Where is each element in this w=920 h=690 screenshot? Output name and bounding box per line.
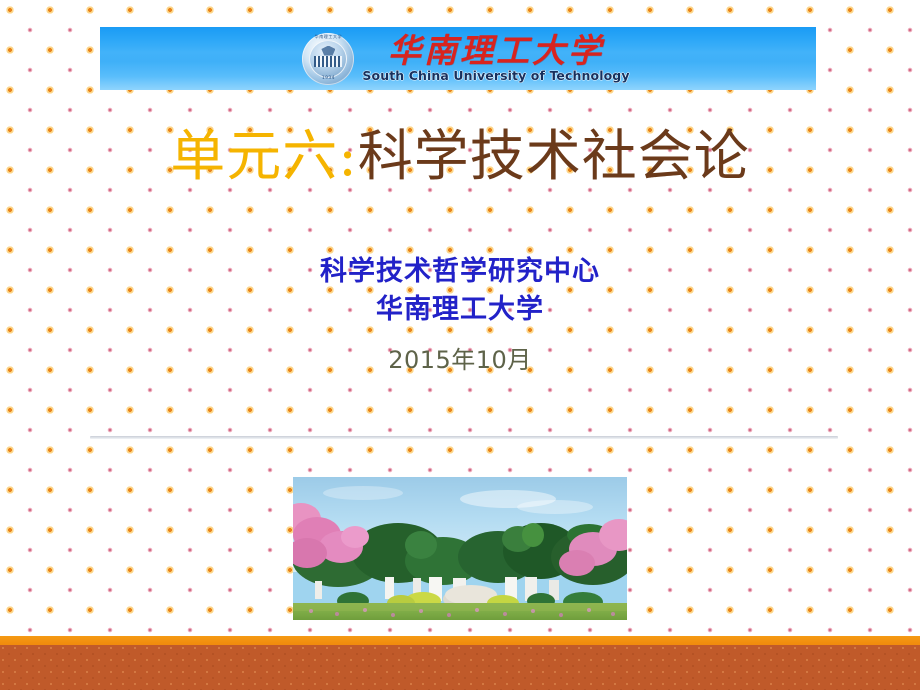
subtitle-block: 科学技术哲学研究中心 华南理工大学 2015年10月 — [0, 253, 920, 375]
campus-photo — [293, 477, 627, 620]
slide-title: 单元六:科学技术社会论 — [0, 126, 920, 188]
footer-accent-stripe — [0, 636, 920, 645]
subtitle-university: 华南理工大学 — [0, 291, 920, 329]
wordmark-english: South China University of Technology — [362, 70, 629, 83]
subtitle-research-center: 科学技术哲学研究中心 — [0, 253, 920, 291]
university-seal-icon: 华南理工大学 1934 — [302, 33, 354, 85]
university-wordmark: 华南理工大学 South China University of Technol… — [362, 34, 629, 83]
footer-band — [0, 645, 920, 690]
subtitle-date: 2015年10月 — [0, 340, 920, 375]
university-banner: 华南理工大学 1934 华南理工大学 South China Universit… — [100, 27, 816, 90]
campus-photo-graphic — [293, 477, 627, 620]
slide-title-topic: 科学技术社会论 — [358, 124, 750, 188]
seal-founding-year: 1934 — [302, 76, 354, 81]
presentation-slide: 华南理工大学 1934 华南理工大学 South China Universit… — [0, 0, 920, 690]
banner-logo-group: 华南理工大学 1934 华南理工大学 South China Universit… — [302, 33, 629, 85]
horizontal-divider — [90, 436, 838, 439]
wordmark-chinese: 华南理工大学 — [388, 34, 604, 67]
slide-title-unit-prefix: 单元六: — [170, 124, 358, 188]
seal-building-graphic — [314, 56, 342, 67]
